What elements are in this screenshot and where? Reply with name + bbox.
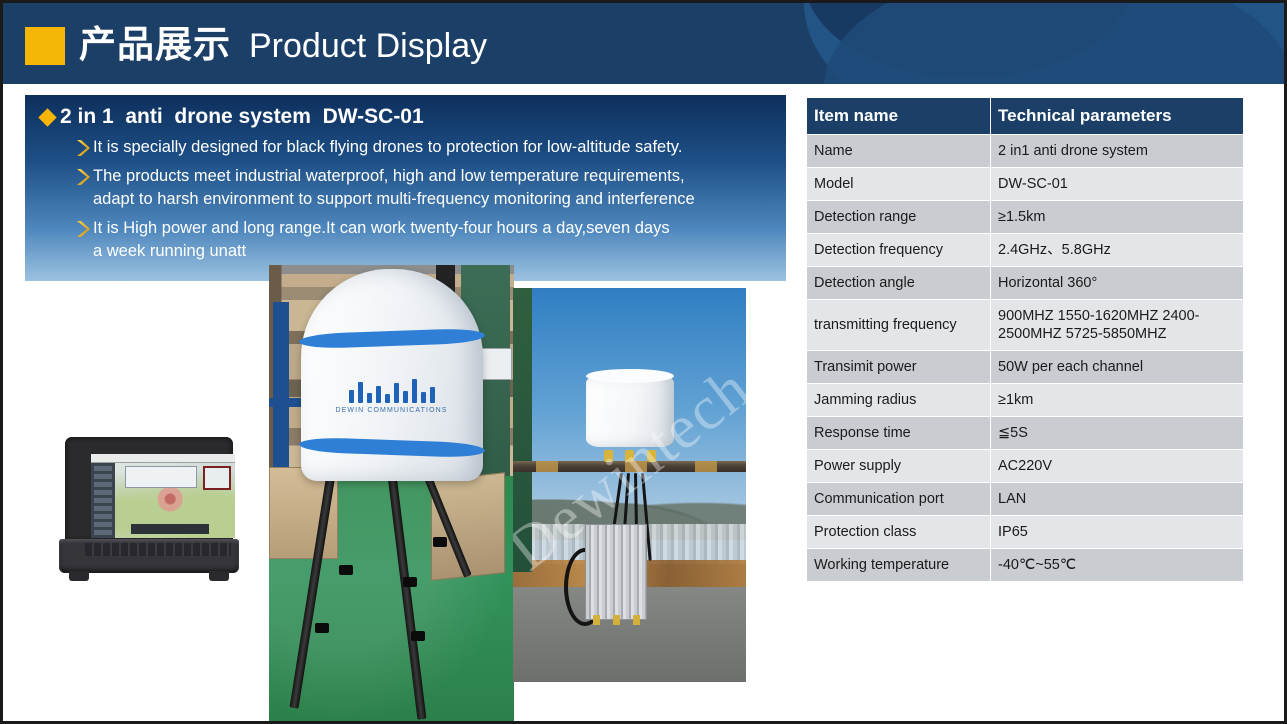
- spec-item: Model: [807, 168, 991, 201]
- feature-bullet-1: It is specially designed for black flyin…: [35, 136, 772, 159]
- table-header-row: Item name Technical parameters: [807, 98, 1244, 135]
- spec-value: LAN: [991, 483, 1244, 516]
- table-row: Transimit power 50W per each channel: [807, 351, 1244, 384]
- table-row: Detection angle Horizontal 360°: [807, 267, 1244, 300]
- table-row: Jamming radius ≥1km: [807, 384, 1244, 417]
- feature-bullet-3: It is High power and long range.It can w…: [35, 217, 772, 263]
- mounting-pole: [513, 461, 746, 472]
- tripod-lock-2: [315, 623, 329, 633]
- laptop-lid: [65, 437, 233, 541]
- spec-item: Transimit power: [807, 351, 991, 384]
- table-row: Model DW-SC-01: [807, 168, 1244, 201]
- feature-bullet-2-text: The products meet industrial waterproof,…: [75, 165, 695, 211]
- laptop-screen-titlebar: [91, 454, 235, 463]
- dome-brand-text: DEWIN COMMUNICATIONS: [335, 407, 447, 414]
- laptop-screen-toolbar: [131, 524, 209, 534]
- table-row: Communication port LAN: [807, 483, 1244, 516]
- tripod-lock-1: [339, 565, 353, 575]
- spec-item: Communication port: [807, 483, 991, 516]
- table-header-item-name: Item name: [807, 98, 991, 135]
- spec-item: Working temperature: [807, 549, 991, 582]
- spec-item: Detection range: [807, 201, 991, 234]
- table-row: Name 2 in1 anti drone system: [807, 135, 1244, 168]
- jammer-enclosure: [585, 524, 647, 620]
- page-title-english: Product Display: [249, 21, 487, 71]
- laptop-foot-left: [69, 571, 89, 581]
- table-row: Detection frequency 2.4GHz、5.8GHz: [807, 234, 1244, 267]
- chevron-right-icon: [35, 165, 75, 187]
- laptop-foot-right: [209, 571, 229, 581]
- photo-detection-dome: DEWIN COMMUNICATIONS: [269, 265, 514, 724]
- page-header: 产品展示 Product Display: [3, 3, 1284, 84]
- table-row: Working temperature -40℃~55℃: [807, 549, 1244, 582]
- page-title-chinese: 产品展示: [79, 19, 231, 71]
- photo-control-laptop: [51, 431, 247, 591]
- diamond-bullet-icon: [38, 108, 56, 126]
- spec-value: ≥1km: [991, 384, 1244, 417]
- dome-tape-stripe-lower: [298, 437, 484, 458]
- spec-value: 900MHZ 1550-1620MHZ 2400-2500MHZ 5725-58…: [991, 300, 1244, 351]
- radome-connectors: [604, 450, 656, 462]
- table-row: Response time ≦5S: [807, 417, 1244, 450]
- feature-bullet-2: The products meet industrial waterproof,…: [35, 165, 772, 211]
- laptop-base: [59, 539, 239, 573]
- feature-bullet-1-text: It is specially designed for black flyin…: [75, 136, 682, 159]
- spec-value: ≦5S: [991, 417, 1244, 450]
- chevron-right-icon: [35, 136, 75, 158]
- header-swoosh-mid: [824, 3, 1284, 84]
- spec-value: 2 in1 anti drone system: [991, 135, 1244, 168]
- laptop-screen: [91, 454, 235, 538]
- chevron-right-icon: [35, 217, 75, 239]
- laptop-keyboard: [85, 543, 231, 556]
- feature-heading-text: 2 in 1 anti drone system DW-SC-01: [60, 105, 424, 129]
- spec-item: transmitting frequency: [807, 300, 991, 351]
- table-row: transmitting frequency 900MHZ 1550-1620M…: [807, 300, 1244, 351]
- slide-canvas: 产品展示 Product Display 2 in 1 anti drone s…: [0, 0, 1287, 724]
- dewin-bars-logo-icon: [336, 377, 448, 403]
- tripod-lock-3: [403, 577, 417, 587]
- spec-item: Power supply: [807, 450, 991, 483]
- header-swoosh-light: [804, 3, 1284, 84]
- feature-heading-row: 2 in 1 anti drone system DW-SC-01: [35, 105, 772, 129]
- spec-item: Protection class: [807, 516, 991, 549]
- table-row: Power supply AC220V: [807, 450, 1244, 483]
- spec-value: 50W per each channel: [991, 351, 1244, 384]
- detection-dome-body: DEWIN COMMUNICATIONS: [301, 269, 483, 481]
- table-row: Protection class IP65: [807, 516, 1244, 549]
- feature-bullet-3-text: It is High power and long range.It can w…: [75, 217, 670, 263]
- tripod-lock-5: [433, 537, 447, 547]
- tripod-lock-4: [411, 631, 425, 641]
- feature-panel: 2 in 1 anti drone system DW-SC-01 It is …: [25, 95, 786, 281]
- technical-specs-table: Item name Technical parameters Name 2 in…: [806, 97, 1244, 582]
- spec-item: Name: [807, 135, 991, 168]
- spec-item: Detection angle: [807, 267, 991, 300]
- spec-value: Horizontal 360°: [991, 267, 1244, 300]
- table-header-technical-parameters: Technical parameters: [991, 98, 1244, 135]
- spec-value: DW-SC-01: [991, 168, 1244, 201]
- spec-value: 2.4GHz、5.8GHz: [991, 234, 1244, 267]
- rooftop-green-structure: [513, 288, 532, 572]
- spec-value: -40℃~55℃: [991, 549, 1244, 582]
- dome-tape-stripe-upper: [298, 328, 484, 349]
- spec-item: Jamming radius: [807, 384, 991, 417]
- laptop-screen-sidebar: [91, 463, 115, 538]
- spec-value: IP65: [991, 516, 1244, 549]
- photo-rooftop-installation: Dewintech: [513, 288, 746, 682]
- laptop-screen-dialog: [125, 466, 197, 488]
- jammer-connectors: [586, 615, 646, 625]
- laptop-screen-alert-panel: [203, 466, 231, 490]
- header-swoosh-dark: [804, 3, 1134, 78]
- radome-antenna: [586, 375, 674, 447]
- header-accent-square: [25, 27, 65, 65]
- spec-value: AC220V: [991, 450, 1244, 483]
- spec-item: Response time: [807, 417, 991, 450]
- table-row: Detection range ≥1.5km: [807, 201, 1244, 234]
- spec-value: ≥1.5km: [991, 201, 1244, 234]
- spec-item: Detection frequency: [807, 234, 991, 267]
